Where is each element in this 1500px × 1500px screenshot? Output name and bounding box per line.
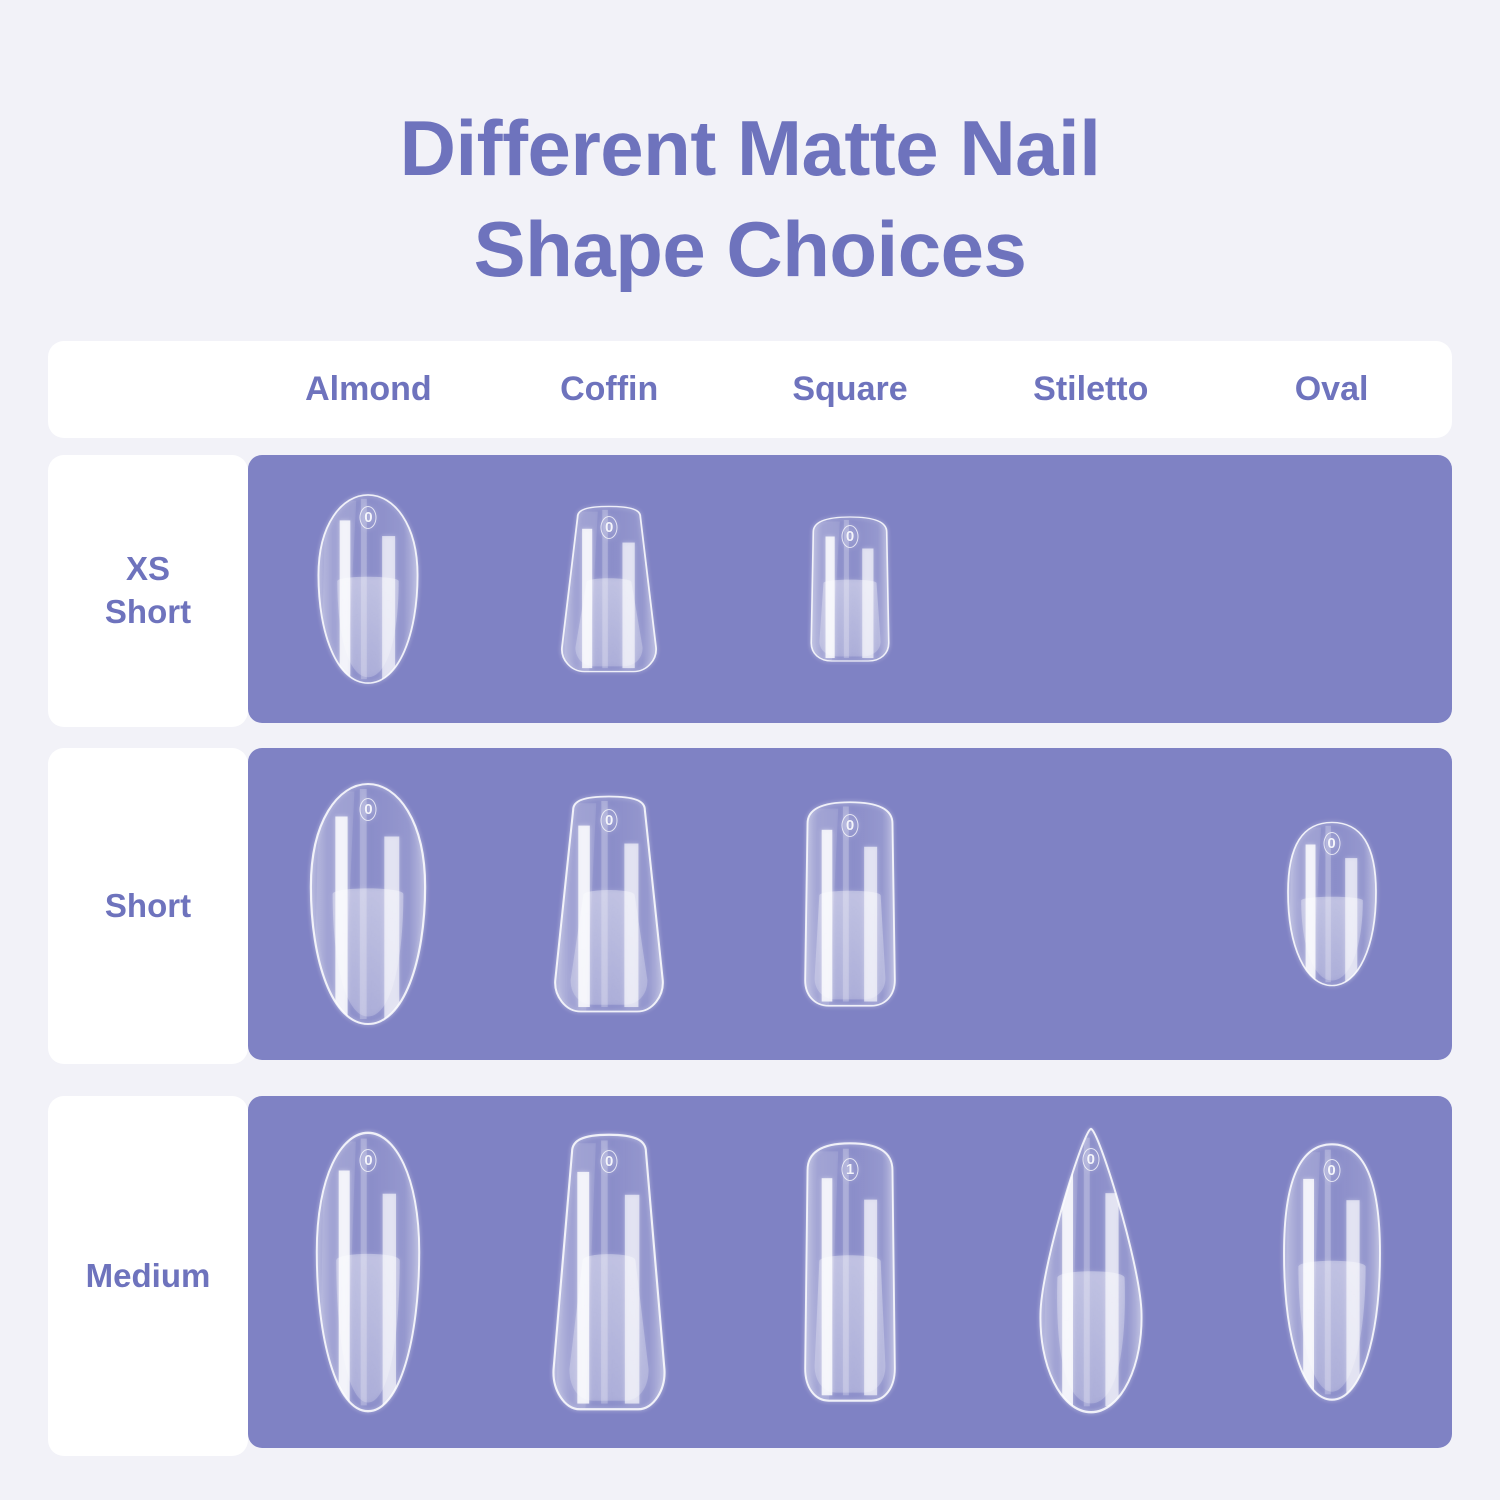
column-header-card: AlmondCoffinSquareStilettoOval: [48, 341, 1452, 438]
row-label-xs-short[interactable]: XS Short: [48, 455, 248, 727]
nail-size-stamp: 0: [846, 818, 854, 833]
nail-size-stamp: 0: [846, 529, 854, 544]
nail-tip-almond[interactable]: 0: [300, 779, 436, 1029]
row-label-text: XS Short: [105, 548, 191, 634]
nail-size-stamp: 0: [1327, 1163, 1335, 1178]
row-cell-list: 000: [248, 455, 1452, 723]
column-header-label: Stiletto: [1033, 370, 1148, 409]
column-header-almond[interactable]: Almond: [248, 341, 489, 438]
nail-tip-almond[interactable]: 0: [309, 491, 427, 687]
column-header-label: Oval: [1295, 370, 1369, 409]
column-header-stiletto[interactable]: Stiletto: [970, 341, 1211, 438]
cell-medium-almond[interactable]: 0: [248, 1096, 489, 1448]
cell-medium-square[interactable]: 1: [730, 1096, 971, 1448]
page-title: Different Matte Nail Shape Choices: [0, 98, 1500, 301]
nail-tip-square[interactable]: 0: [799, 514, 901, 664]
nail-size-stamp: 0: [605, 813, 613, 828]
cell-short-almond[interactable]: 0: [248, 748, 489, 1060]
column-header-coffin[interactable]: Coffin: [489, 341, 730, 438]
cell-medium-stiletto[interactable]: 0: [970, 1096, 1211, 1448]
nail-size-stamp: 1: [846, 1162, 854, 1177]
nail-size-stamp: 0: [364, 510, 372, 525]
nail-size-stamp: 0: [364, 802, 372, 817]
cell-xs-short-square[interactable]: 0: [730, 455, 971, 723]
nail-tip-square[interactable]: 1: [791, 1138, 909, 1406]
nail-size-stamp: 0: [1327, 836, 1335, 851]
title-line-1: Different Matte Nail: [0, 98, 1500, 199]
cell-medium-oval[interactable]: 0: [1211, 1096, 1452, 1448]
nail-size-stamp: 0: [364, 1153, 372, 1168]
cell-short-coffin[interactable]: 0: [489, 748, 730, 1060]
row-cell-list: 0000: [248, 748, 1452, 1060]
nail-tip-almond[interactable]: 0: [307, 1127, 429, 1417]
nail-tip-coffin[interactable]: 0: [545, 792, 673, 1016]
nail-tip-stiletto[interactable]: 0: [1031, 1126, 1151, 1418]
nail-size-stamp: 0: [1087, 1152, 1095, 1167]
nail-tip-oval[interactable]: 0: [1277, 819, 1387, 989]
size-row: XS Short000: [48, 455, 1452, 727]
nail-size-stamp: 0: [605, 1154, 613, 1169]
cell-short-stiletto[interactable]: [970, 748, 1211, 1060]
infographic-page: Different Matte Nail Shape Choices Almon…: [0, 0, 1500, 1500]
cell-short-oval[interactable]: 0: [1211, 748, 1452, 1060]
title-line-2: Shape Choices: [0, 199, 1500, 300]
size-row: Medium00100: [48, 1096, 1452, 1456]
nail-tip-coffin[interactable]: 0: [553, 503, 665, 675]
cell-xs-short-almond[interactable]: 0: [248, 455, 489, 723]
row-label-short[interactable]: Short: [48, 748, 248, 1064]
row-cell-list: 00100: [248, 1096, 1452, 1448]
row-label-text: Medium: [86, 1255, 211, 1298]
column-header-list: AlmondCoffinSquareStilettoOval: [248, 341, 1452, 438]
row-label-text: Short: [105, 885, 191, 928]
nail-tip-coffin[interactable]: 0: [543, 1129, 675, 1415]
cell-xs-short-stiletto[interactable]: [970, 455, 1211, 723]
size-row: Short0000: [48, 748, 1452, 1064]
cell-xs-short-coffin[interactable]: 0: [489, 455, 730, 723]
column-header-label: Square: [792, 370, 907, 409]
column-header-oval[interactable]: Oval: [1211, 341, 1452, 438]
cell-short-square[interactable]: 0: [730, 748, 971, 1060]
column-header-square[interactable]: Square: [730, 341, 971, 438]
nail-tip-oval[interactable]: 0: [1272, 1139, 1392, 1405]
column-header-label: Almond: [305, 370, 432, 409]
column-header-label: Coffin: [560, 370, 658, 409]
row-label-medium[interactable]: Medium: [48, 1096, 248, 1456]
nail-tip-square[interactable]: 0: [791, 798, 909, 1010]
cell-medium-coffin[interactable]: 0: [489, 1096, 730, 1448]
cell-xs-short-oval[interactable]: [1211, 455, 1452, 723]
nail-size-stamp: 0: [605, 520, 613, 535]
